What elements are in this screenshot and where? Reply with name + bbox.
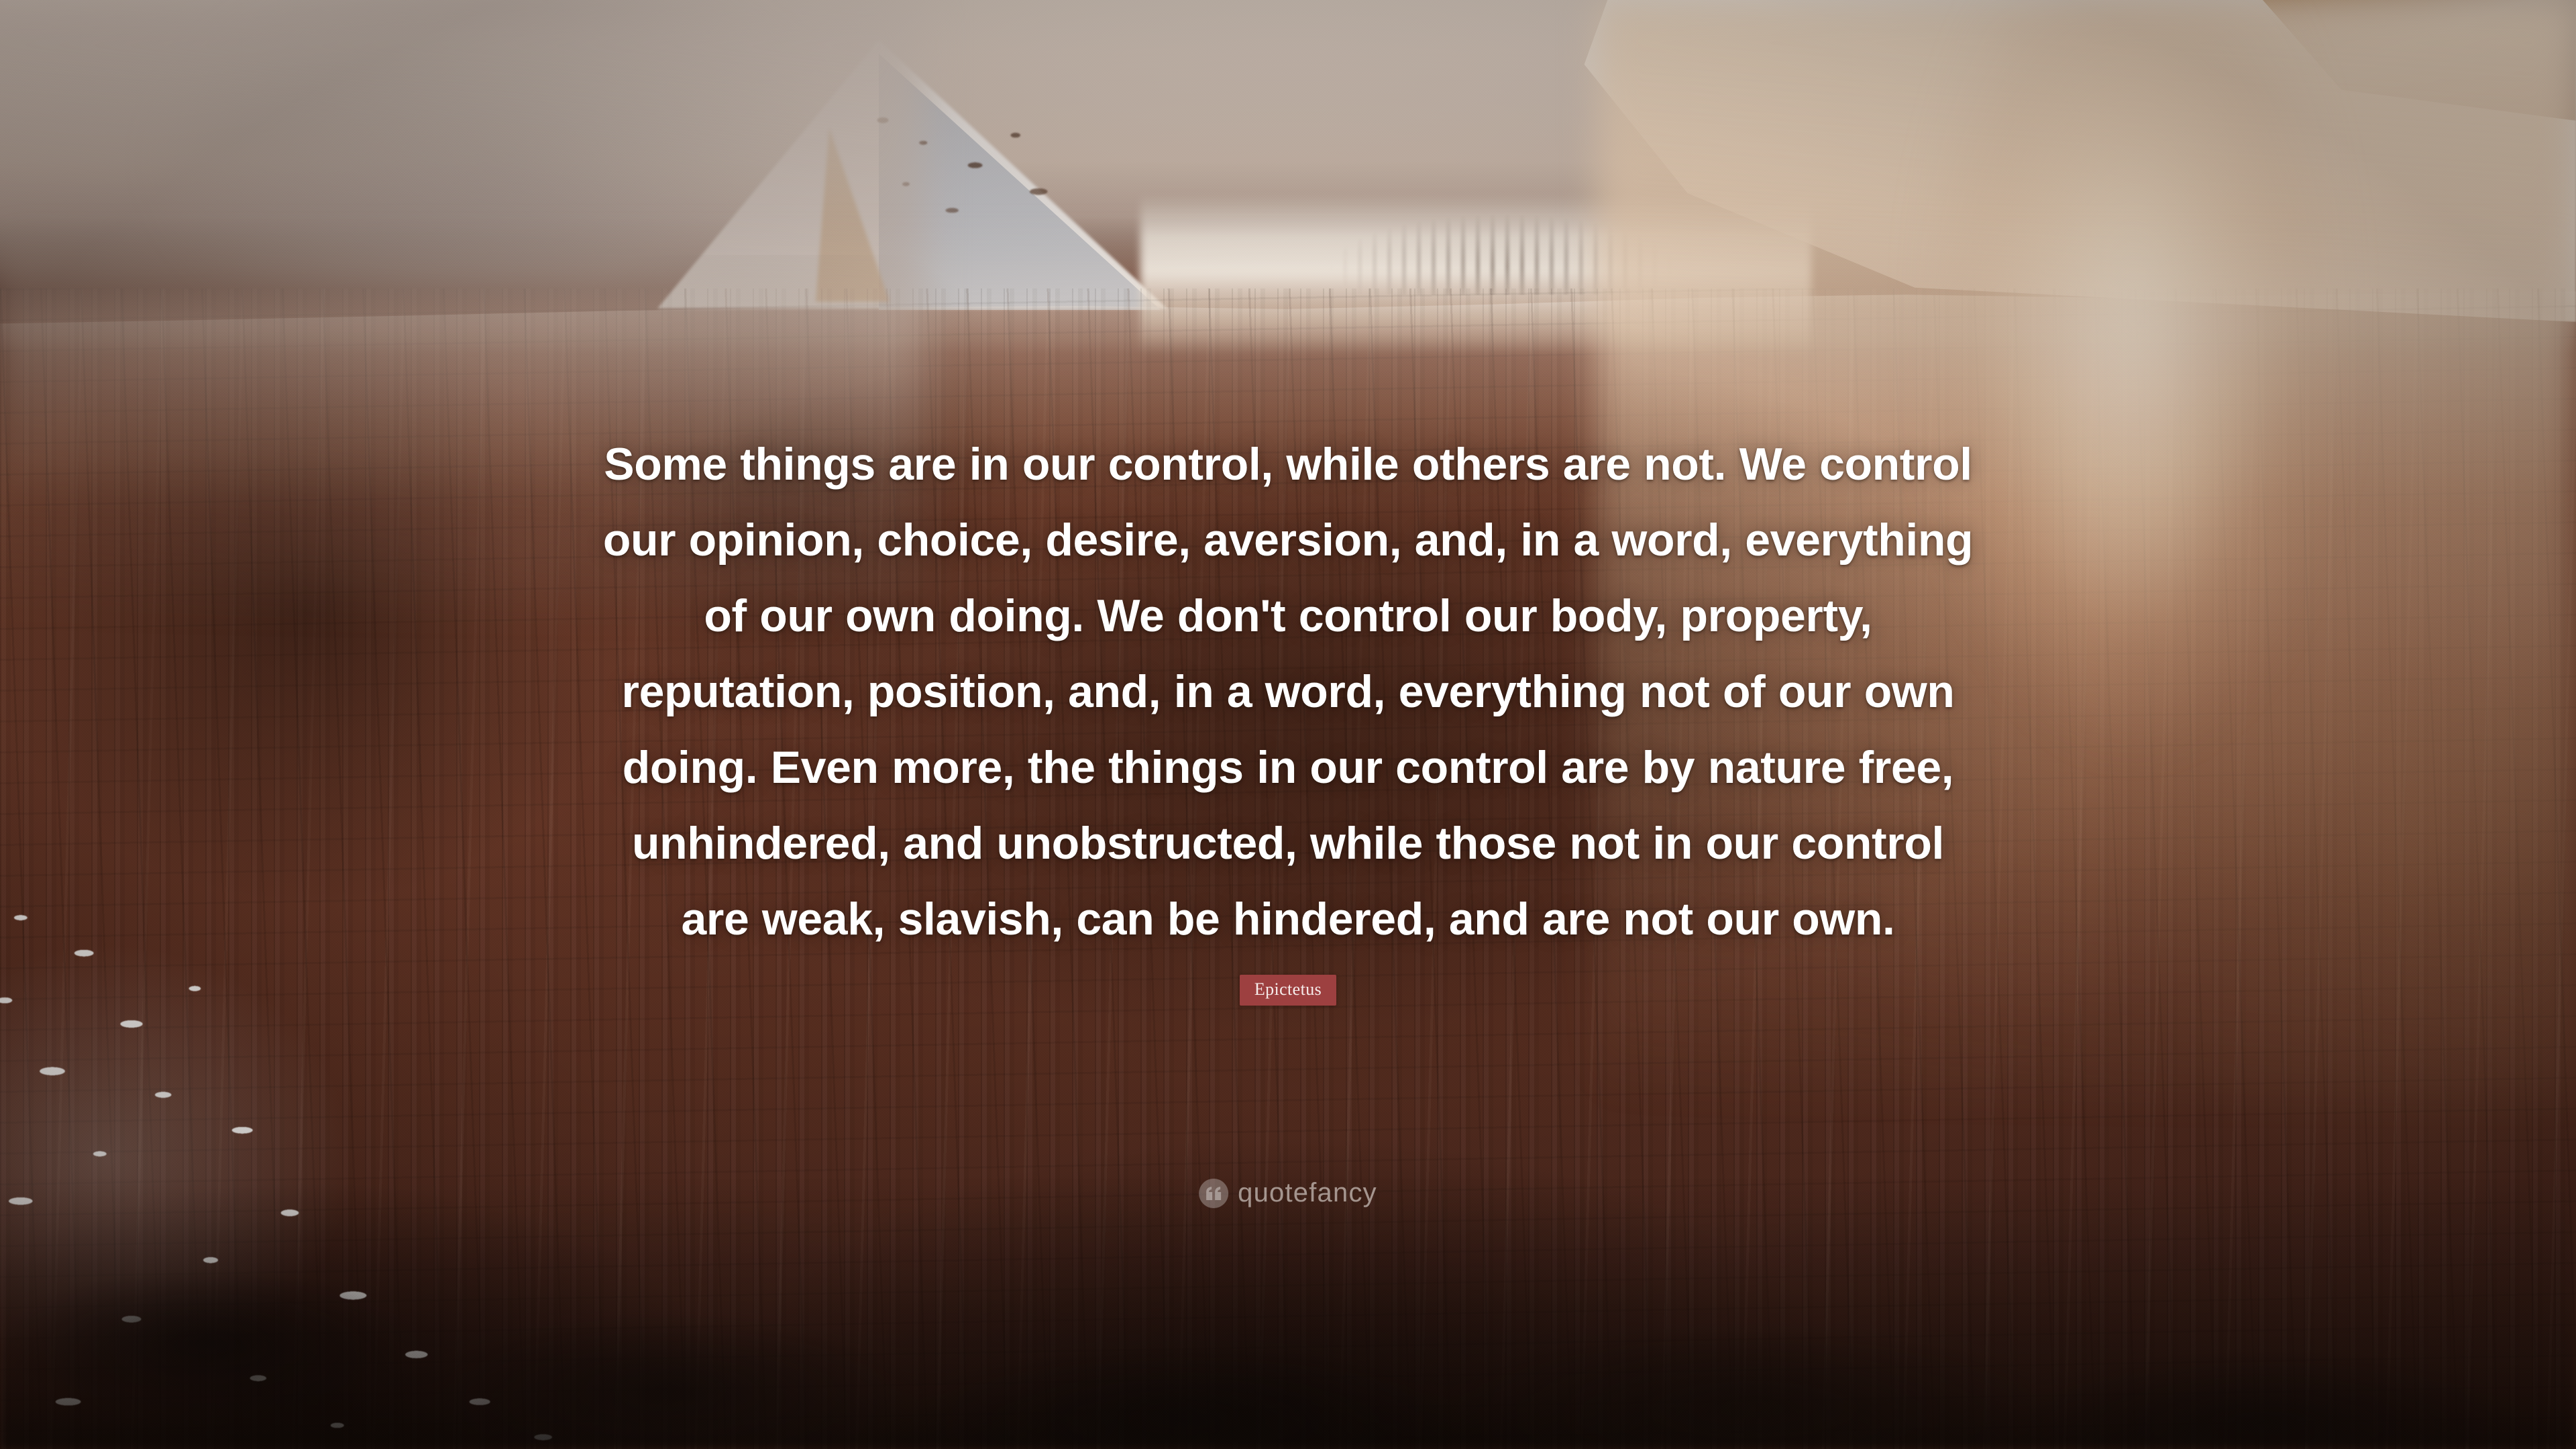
quote-line: unhindered, and unobstructed, while thos…: [632, 818, 1944, 869]
quotefancy-watermark[interactable]: quotefancy: [1199, 1178, 1377, 1208]
quote-wallpaper: Some things are in our control, while ot…: [0, 0, 2576, 1449]
double-quote-icon: [1199, 1179, 1228, 1208]
quote-line: reputation, position, and, in a word, ev…: [622, 666, 1955, 717]
quote-line: our opinion, choice, desire, aversion, a…: [603, 515, 1973, 566]
author-badge[interactable]: Epictetus: [1240, 975, 1336, 1006]
quote-line: doing. Even more, the things in our cont…: [623, 742, 1954, 793]
quote-text: Some things are in our control, while ot…: [463, 427, 2113, 957]
quote-line: of our own doing. We don't control our b…: [704, 590, 1872, 641]
quote-line: are weak, slavish, can be hindered, and …: [681, 894, 1894, 945]
quotefancy-wordmark: quotefancy: [1238, 1178, 1377, 1208]
quote-line: Some things are in our control, while ot…: [604, 439, 1972, 490]
overlay-content: Some things are in our control, while ot…: [0, 0, 2576, 1449]
